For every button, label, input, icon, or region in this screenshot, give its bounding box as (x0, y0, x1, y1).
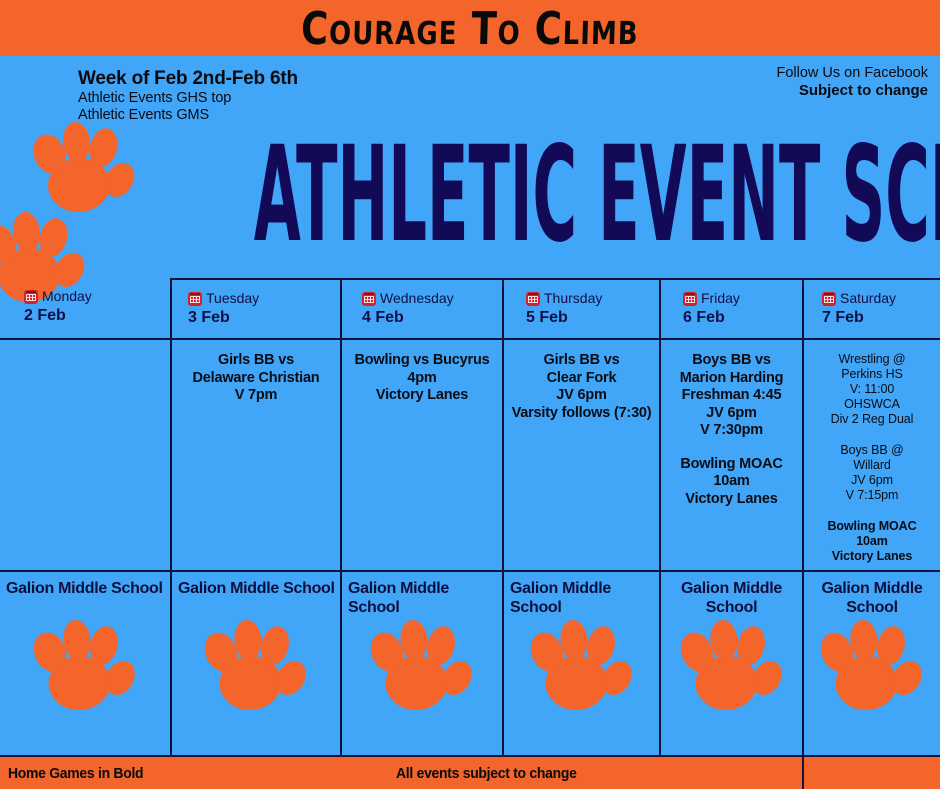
calendar-icon (24, 290, 38, 304)
event-line: Freshman 4:45 (665, 387, 798, 405)
calendar-icon (362, 292, 376, 306)
day-column-tuesday: Tuesday 3 Feb Girls BB vs Delaware Chris… (170, 278, 340, 757)
athletic-schedule-poster: Courage to Climb Week of Feb 2nd-Feb 6th… (0, 0, 940, 788)
middle-school-label: Galion Middle School (504, 579, 659, 617)
event-line: V: 11:00 (808, 382, 936, 397)
calendar-icon (188, 292, 202, 306)
event-line: 10am (808, 534, 936, 549)
day-name: Thursday (544, 290, 602, 307)
event-line: Perkins HS (808, 367, 936, 382)
day-header-monday: Monday 2 Feb (0, 278, 170, 340)
middle-school-label: Galion Middle School (0, 579, 170, 598)
week-label: Week of Feb 2nd-Feb 6th (78, 68, 298, 90)
paw-print-icon (679, 620, 784, 710)
event-entry: Bowling vs Bucyrus 4pm Victory Lanes (346, 352, 498, 405)
events-tuesday: Girls BB vs Delaware Christian V 7pm (172, 340, 340, 572)
event-line: V 7pm (176, 387, 336, 405)
day-name: Friday (701, 290, 740, 307)
middle-school-thursday: Galion Middle School (504, 572, 659, 757)
event-line: Victory Lanes (665, 491, 798, 509)
event-line: Wrestling @ (808, 352, 936, 367)
middle-school-friday: Galion Middle School (661, 572, 802, 757)
event-line: 4pm (346, 370, 498, 388)
day-column-friday: Friday 6 Feb Boys BB vs Marion Harding F… (659, 278, 802, 757)
follow-info: Follow Us on Facebook Subject to change (776, 64, 928, 100)
event-line: Willard (808, 458, 936, 473)
middle-school-monday: Galion Middle School (0, 572, 170, 757)
middle-school-saturday: Galion Middle School (804, 572, 940, 757)
event-line: Marion Harding (665, 370, 798, 388)
day-header-tuesday: Tuesday 3 Feb (172, 278, 340, 340)
paw-print-icon (32, 122, 137, 212)
info-strip: Week of Feb 2nd-Feb 6th Athletic Events … (0, 56, 940, 118)
event-line: Bowling vs Bucyrus (346, 352, 498, 370)
calendar-icon (526, 292, 540, 306)
events-thursday: Girls BB vs Clear Fork JV 6pm Varsity fo… (504, 340, 659, 572)
event-line: Victory Lanes (346, 387, 498, 405)
paw-print-icon (33, 620, 138, 710)
event-line: Bowling MOAC (808, 519, 936, 534)
events-saturday: Wrestling @ Perkins HS V: 11:00 OHSWCA D… (804, 340, 940, 572)
event-line: Boys BB @ (808, 443, 936, 458)
day-name: Saturday (840, 290, 896, 307)
middle-school-wednesday: Galion Middle School (342, 572, 502, 757)
event-line: Delaware Christian (176, 370, 336, 388)
middle-school-label: Galion Middle School (342, 579, 502, 617)
event-line: Girls BB vs (508, 352, 655, 370)
event-line: 10am (665, 473, 798, 491)
events-monday (0, 340, 170, 572)
day-name: Tuesday (206, 290, 259, 307)
event-line: Varsity follows (7:30) (508, 405, 655, 423)
follow-us-text: Follow Us on Facebook (776, 64, 928, 82)
hero: ATHLETIC EVENT SCHEDULE (0, 118, 940, 278)
middle-school-label: Galion Middle School (661, 579, 802, 617)
middle-school-label: Galion Middle School (804, 579, 940, 617)
event-line: JV 6pm (808, 473, 936, 488)
day-header-thursday: Thursday 5 Feb (504, 278, 659, 340)
day-date: 7 Feb (822, 308, 940, 327)
middle-school-label: Galion Middle School (172, 579, 340, 598)
week-sub-line-1: Athletic Events GHS top (78, 90, 298, 107)
events-friday: Boys BB vs Marion Harding Freshman 4:45 … (661, 340, 802, 572)
day-name: Wednesday (380, 290, 454, 307)
day-date: 6 Feb (683, 308, 802, 327)
event-line: Girls BB vs (176, 352, 336, 370)
event-line: Bowling MOAC (665, 456, 798, 474)
event-line: Victory Lanes (808, 549, 936, 564)
footer-divider (802, 757, 804, 789)
day-header-friday: Friday 6 Feb (661, 278, 802, 340)
paw-print-icon (204, 620, 309, 710)
middle-school-tuesday: Galion Middle School (172, 572, 340, 757)
event-line: Boys BB vs (665, 352, 798, 370)
home-games-note: Home Games in Bold (8, 765, 143, 782)
event-line: OHSWCA (808, 397, 936, 412)
event-entry: Wrestling @ Perkins HS V: 11:00 OHSWCA D… (808, 352, 936, 427)
event-entry: Boys BB @ Willard JV 6pm V 7:15pm (808, 443, 936, 503)
calendar-icon (683, 292, 697, 306)
event-line: V 7:15pm (808, 488, 936, 503)
paw-print-icon (820, 620, 925, 710)
day-date: 3 Feb (188, 308, 340, 327)
subject-to-change-footer-note: All events subject to change (396, 765, 577, 782)
subject-to-change-note: Subject to change (776, 82, 928, 100)
day-column-saturday: Saturday 7 Feb Wrestling @ Perkins HS V:… (802, 278, 940, 757)
day-column-monday: Monday 2 Feb Galion Middle School (0, 278, 170, 757)
event-entry: Girls BB vs Clear Fork JV 6pm Varsity fo… (508, 352, 655, 422)
event-line: Clear Fork (508, 370, 655, 388)
day-date: 4 Feb (362, 308, 502, 327)
page-title: ATHLETIC EVENT SCHEDULE (254, 120, 686, 270)
day-date: 5 Feb (526, 308, 659, 327)
day-name: Monday (42, 288, 92, 305)
event-entry: Girls BB vs Delaware Christian V 7pm (176, 352, 336, 405)
schedule-grid: Monday 2 Feb Galion Middle School (0, 278, 940, 757)
event-entry: Bowling MOAC 10am Victory Lanes (665, 456, 798, 509)
paw-print-icon (370, 620, 475, 710)
day-date: 2 Feb (24, 306, 170, 325)
paw-print-icon (529, 620, 634, 710)
event-line: JV 6pm (665, 405, 798, 423)
day-header-saturday: Saturday 7 Feb (804, 278, 940, 340)
calendar-icon (822, 292, 836, 306)
event-entry: Bowling MOAC 10am Victory Lanes (808, 519, 936, 564)
day-column-wednesday: Wednesday 4 Feb Bowling vs Bucyrus 4pm V… (340, 278, 502, 757)
event-entry: Boys BB vs Marion Harding Freshman 4:45 … (665, 352, 798, 440)
banner: Courage to Climb (0, 0, 940, 56)
events-wednesday: Bowling vs Bucyrus 4pm Victory Lanes (342, 340, 502, 572)
banner-title: Courage to Climb (300, 2, 639, 54)
week-info: Week of Feb 2nd-Feb 6th Athletic Events … (78, 68, 298, 124)
event-line: V 7:30pm (665, 422, 798, 440)
day-header-wednesday: Wednesday 4 Feb (342, 278, 502, 340)
event-line: Div 2 Reg Dual (808, 412, 936, 427)
footer: Home Games in Bold All events subject to… (0, 757, 940, 789)
day-column-thursday: Thursday 5 Feb Girls BB vs Clear Fork JV… (502, 278, 659, 757)
event-line: JV 6pm (508, 387, 655, 405)
